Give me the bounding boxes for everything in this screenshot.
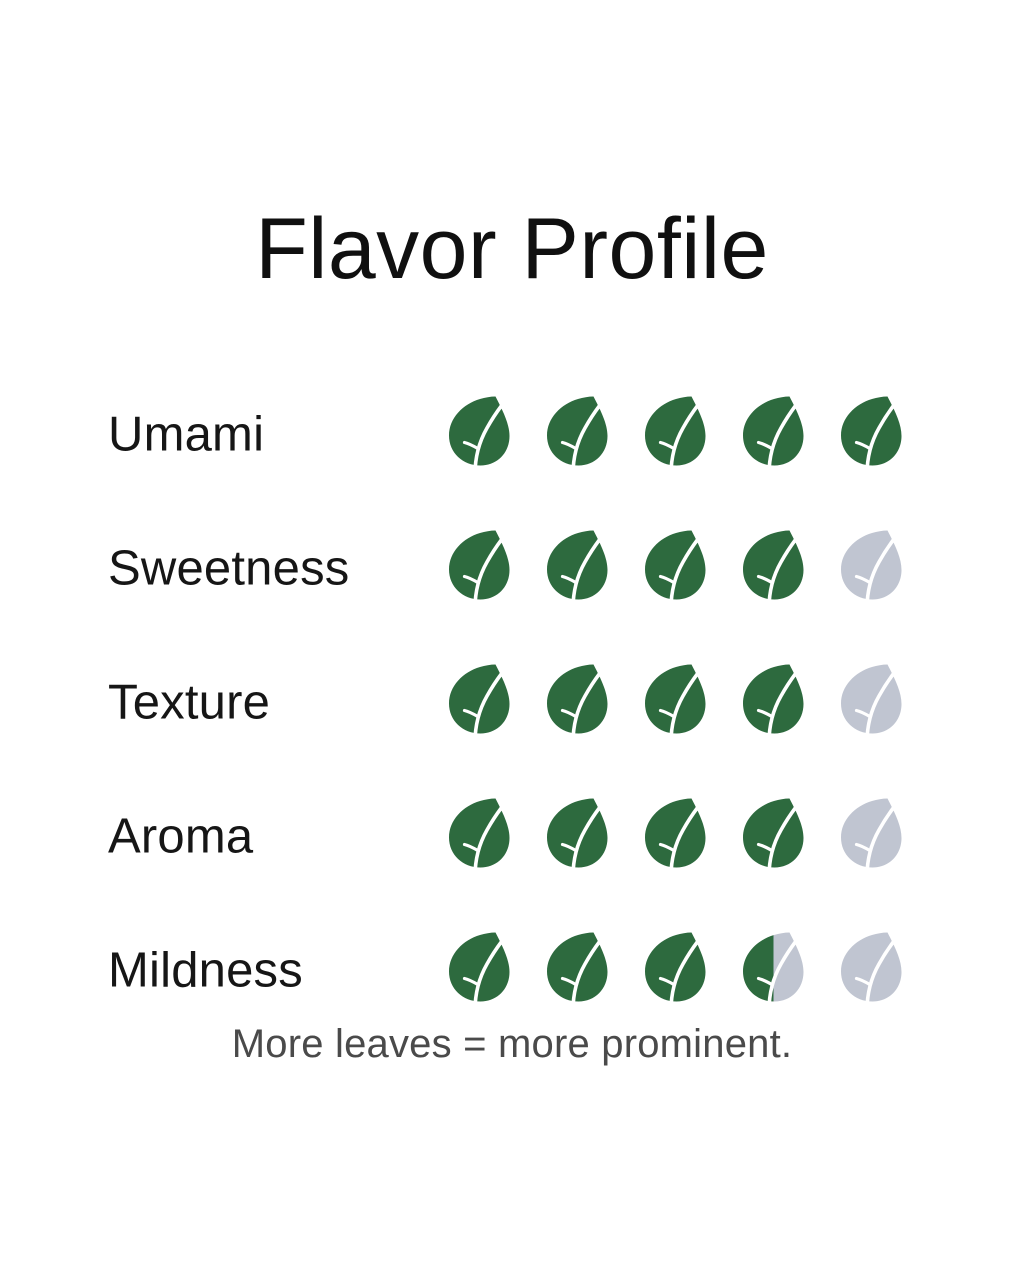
leaf-icon[interactable] bbox=[735, 392, 811, 478]
rating-row-label: Mildness bbox=[108, 947, 303, 996]
leaf-icon[interactable] bbox=[833, 660, 909, 746]
leaf-icon[interactable] bbox=[441, 928, 517, 1014]
leaf-icon[interactable] bbox=[637, 660, 713, 746]
leaf-icon[interactable] bbox=[441, 526, 517, 612]
leaf-icon[interactable] bbox=[637, 794, 713, 880]
rating-row-label: Umami bbox=[108, 411, 264, 460]
leaf-icon[interactable] bbox=[441, 794, 517, 880]
leaf-icon[interactable] bbox=[539, 392, 615, 478]
rating-row-texture: Texture bbox=[0, 636, 1024, 770]
leaf-icon[interactable] bbox=[735, 660, 811, 746]
rating-leaves-umami bbox=[441, 392, 909, 478]
leaf-icon[interactable] bbox=[637, 928, 713, 1014]
rating-leaves-aroma bbox=[441, 794, 909, 880]
leaf-icon[interactable] bbox=[539, 660, 615, 746]
leaf-icon[interactable] bbox=[637, 392, 713, 478]
rating-row-label: Texture bbox=[108, 679, 270, 728]
rating-leaves-texture bbox=[441, 660, 909, 746]
leaf-icon[interactable] bbox=[735, 526, 811, 612]
rating-row-aroma: Aroma bbox=[0, 770, 1024, 904]
legend-caption: More leaves = more prominent. bbox=[0, 1024, 1024, 1064]
leaf-icon[interactable] bbox=[833, 526, 909, 612]
rating-row-sweetness: Sweetness bbox=[0, 502, 1024, 636]
rating-row-mildness: Mildness bbox=[0, 904, 1024, 1038]
leaf-icon[interactable] bbox=[539, 794, 615, 880]
leaf-icon[interactable] bbox=[833, 392, 909, 478]
leaf-icon[interactable] bbox=[735, 794, 811, 880]
leaf-icon-half[interactable] bbox=[735, 928, 811, 1014]
rating-row-umami: Umami bbox=[0, 368, 1024, 502]
leaf-icon[interactable] bbox=[833, 928, 909, 1014]
rating-row-label: Sweetness bbox=[108, 545, 350, 594]
rating-row-label: Aroma bbox=[108, 813, 253, 862]
leaf-icon[interactable] bbox=[539, 526, 615, 612]
rating-leaves-sweetness bbox=[441, 526, 909, 612]
leaf-icon[interactable] bbox=[441, 660, 517, 746]
page-title: Flavor Profile bbox=[0, 206, 1024, 292]
flavor-profile-card: Flavor Profile Umami bbox=[0, 0, 1024, 1280]
rating-leaves-mildness bbox=[441, 928, 909, 1014]
leaf-icon[interactable] bbox=[441, 392, 517, 478]
leaf-icon[interactable] bbox=[833, 794, 909, 880]
leaf-icon[interactable] bbox=[637, 526, 713, 612]
rating-rows: Umami bbox=[0, 368, 1024, 1038]
leaf-icon[interactable] bbox=[539, 928, 615, 1014]
